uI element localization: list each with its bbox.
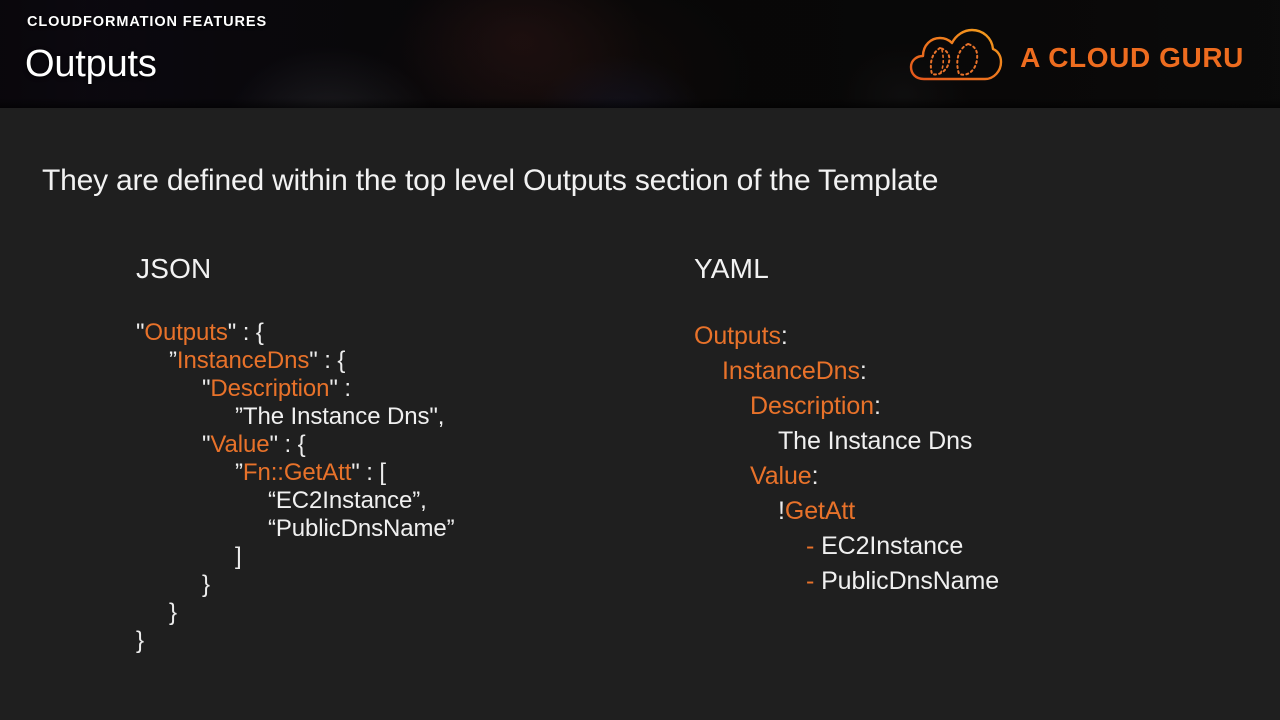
code-line: }	[136, 571, 455, 599]
code-key: GetAtt	[785, 497, 855, 525]
code-line: ]	[136, 543, 455, 571]
code-line: "Outputs" : {	[136, 319, 455, 347]
slide: CLOUDFORMATION FEATURES Outputs	[0, 0, 1280, 720]
code-line: Description:	[694, 389, 999, 424]
code-token: " : {	[270, 431, 306, 458]
json-code-block: "Outputs" : {”InstanceDns" : {"Descripti…	[136, 319, 455, 655]
header-bottom-shadow	[0, 98, 1280, 108]
code-line: - EC2Instance	[694, 529, 999, 564]
code-token: :	[781, 322, 788, 350]
code-token: The Instance Dns	[778, 427, 972, 455]
json-panel: JSON "Outputs" : {”InstanceDns" : {"Desc…	[136, 255, 455, 655]
code-dash: -	[806, 567, 821, 595]
code-token: PublicDnsName	[821, 567, 999, 595]
code-line: The Instance Dns	[694, 424, 999, 459]
code-key: InstanceDns	[177, 347, 309, 374]
code-key: Value	[210, 431, 269, 458]
code-token: " :	[329, 375, 351, 402]
header-eyebrow: CLOUDFORMATION FEATURES	[27, 14, 267, 30]
code-line: Value:	[694, 459, 999, 494]
code-key: Description	[750, 392, 874, 420]
code-line: “PublicDnsName”	[136, 515, 455, 543]
code-line: ”The Instance Dns",	[136, 403, 455, 431]
code-line: "Value" : {	[136, 431, 455, 459]
code-key: InstanceDns	[722, 357, 860, 385]
code-token: ]	[235, 543, 242, 570]
code-token: }	[169, 599, 177, 626]
yaml-panel-heading: YAML	[694, 255, 999, 283]
code-token: " : {	[228, 319, 264, 346]
code-line: ”Fn::GetAtt" : [	[136, 459, 455, 487]
code-token: “PublicDnsName”	[268, 515, 455, 542]
code-line: - PublicDnsName	[694, 564, 999, 599]
code-key: Description	[210, 375, 329, 402]
code-token: }	[136, 627, 144, 654]
code-key: Outputs	[694, 322, 781, 350]
code-line: Outputs:	[694, 319, 999, 354]
code-token: :	[860, 357, 867, 385]
yaml-code-block: Outputs:InstanceDns:Description:The Inst…	[694, 319, 999, 599]
code-line: "Description" :	[136, 375, 455, 403]
brand-logo: A CLOUD GURU	[908, 26, 1244, 89]
code-token: }	[202, 571, 210, 598]
code-token: ”The Instance Dns",	[235, 403, 444, 430]
json-panel-heading: JSON	[136, 255, 455, 283]
code-token: “EC2Instance”,	[268, 487, 427, 514]
lead-statement: They are defined within the top level Ou…	[42, 164, 938, 198]
code-key: Outputs	[144, 319, 227, 346]
code-token: " : {	[309, 347, 345, 374]
code-token: EC2Instance	[821, 532, 963, 560]
code-dash: -	[806, 532, 821, 560]
code-key: Fn::GetAtt	[243, 459, 351, 486]
code-line: InstanceDns:	[694, 354, 999, 389]
code-token: :	[812, 462, 819, 490]
code-line: }	[136, 599, 455, 627]
code-line: !GetAtt	[694, 494, 999, 529]
page-title: Outputs	[25, 43, 157, 86]
cloud-outline-icon	[908, 26, 1004, 89]
code-token: !	[778, 497, 785, 525]
code-line: }	[136, 627, 455, 655]
yaml-panel: YAML Outputs:InstanceDns:Description:The…	[694, 255, 999, 599]
code-line: ”InstanceDns" : {	[136, 347, 455, 375]
code-token: :	[874, 392, 881, 420]
code-token: ”	[235, 459, 243, 486]
code-token: " : [	[351, 459, 386, 486]
code-line: “EC2Instance”,	[136, 487, 455, 515]
brand-name: A CLOUD GURU	[1020, 42, 1244, 74]
slide-header: CLOUDFORMATION FEATURES Outputs	[0, 0, 1280, 108]
code-key: Value	[750, 462, 812, 490]
code-token: ”	[169, 347, 177, 374]
code-panels: JSON "Outputs" : {”InstanceDns" : {"Desc…	[0, 255, 1280, 675]
